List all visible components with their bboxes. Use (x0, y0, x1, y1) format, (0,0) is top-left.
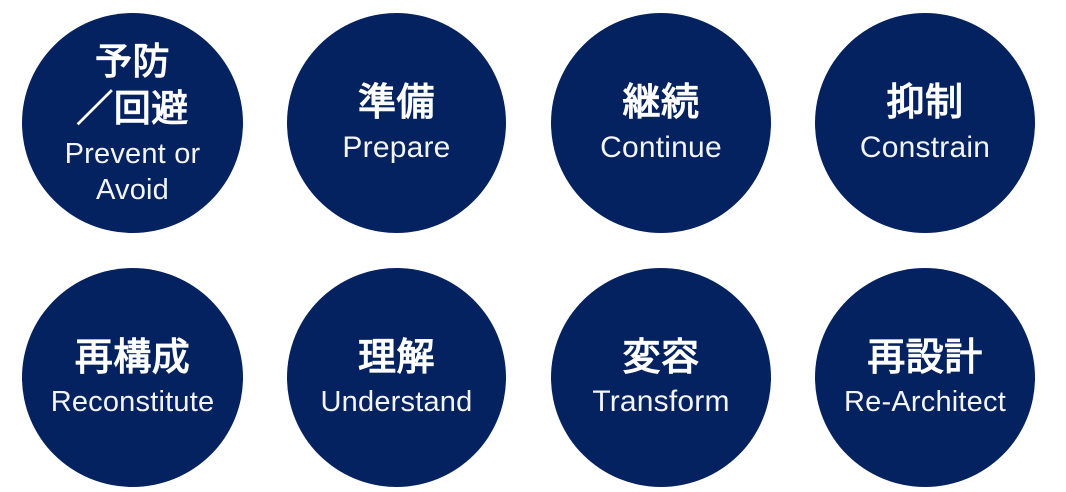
concept-label-japanese: 継続 (622, 80, 699, 126)
concept-label-japanese: 理解 (358, 335, 435, 381)
concept-label-english: Reconstitute (51, 385, 215, 420)
concept-label-japanese: 再構成 (75, 335, 191, 381)
concept-label-english: Transform (592, 384, 729, 420)
concept-circle-continue[interactable]: 継続 Continue (551, 13, 771, 233)
diagram-canvas: 予防 ／回避 Prevent or Avoid 準備 Prepare 継続 Co… (0, 0, 1066, 492)
concept-label-japanese: 抑制 (886, 80, 963, 126)
concept-circle-transform[interactable]: 変容 Transform (551, 268, 771, 487)
concept-label-english: Prepare (342, 130, 450, 166)
concept-circle-reconstitute[interactable]: 再構成 Reconstitute (22, 268, 243, 487)
concept-label-english: Constrain (860, 130, 990, 166)
concept-label-japanese: 準備 (358, 80, 435, 126)
concept-circle-prepare[interactable]: 準備 Prepare (287, 13, 506, 233)
concept-label-english: Understand (321, 385, 473, 420)
concept-circle-prevent-or-avoid[interactable]: 予防 ／回避 Prevent or Avoid (22, 13, 243, 233)
concept-circle-re-architect[interactable]: 再設計 Re-Architect (815, 268, 1035, 487)
concept-label-english: Prevent or Avoid (65, 137, 201, 208)
concept-label-japanese: 予防 ／回避 (76, 38, 189, 133)
concept-label-japanese: 再設計 (867, 335, 983, 381)
concept-label-english: Continue (600, 130, 722, 166)
concept-label-japanese: 変容 (622, 335, 699, 381)
concept-circle-understand[interactable]: 理解 Understand (287, 268, 506, 487)
concept-label-english: Re-Architect (844, 385, 1006, 420)
concept-circle-constrain[interactable]: 抑制 Constrain (815, 13, 1035, 233)
